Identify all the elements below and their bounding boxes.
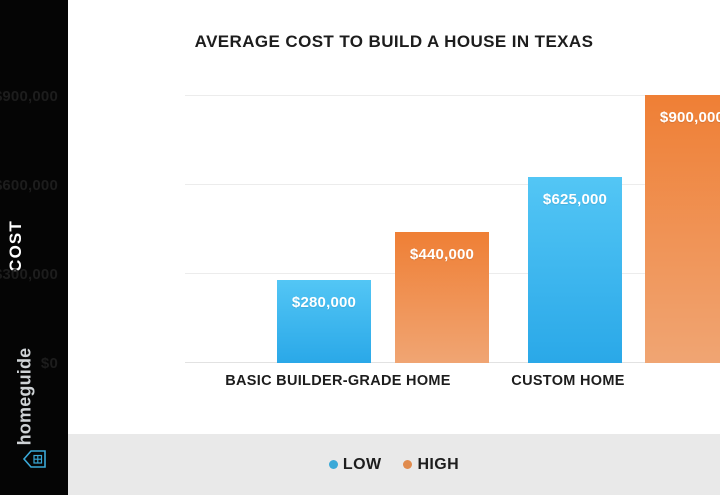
- y-tick-600000: $600,000: [0, 177, 58, 194]
- home-grid-icon: [22, 447, 48, 471]
- gridline-900000: [185, 95, 695, 96]
- y-tick-0: $0: [0, 355, 58, 372]
- bar-low-basic-builder-grade-home[interactable]: $280,000: [277, 280, 371, 363]
- bar-value-label: $280,000: [292, 294, 356, 363]
- legend-item-low[interactable]: LOW: [329, 456, 382, 474]
- chart-title: AVERAGE COST TO BUILD A HOUSE IN TEXAS: [68, 32, 720, 52]
- bar-value-label: $440,000: [410, 246, 474, 363]
- chart-panel: AVERAGE COST TO BUILD A HOUSE IN TEXAS $…: [68, 0, 720, 495]
- plot-area: $280,000 $440,000 $625,000 $900,000: [185, 88, 695, 363]
- bar-value-label: $625,000: [543, 191, 607, 363]
- legend-label: LOW: [343, 456, 382, 474]
- legend-label: HIGH: [417, 456, 459, 474]
- legend-item-high[interactable]: HIGH: [403, 456, 459, 474]
- bar-value-label: $900,000: [660, 109, 720, 363]
- chart-screenshot: COST homeguide AVERAGE COST TO BUILD A H…: [0, 0, 720, 495]
- y-tick-300000: $300,000: [0, 266, 58, 283]
- category-label-custom-home: CUSTOM HOME: [438, 371, 698, 392]
- bar-high-basic-builder-grade-home[interactable]: $440,000: [395, 232, 489, 363]
- y-tick-900000: $900,000: [0, 88, 58, 105]
- category-label-basic-builder-grade-home: BASIC BUILDER-GRADE HOME: [208, 371, 468, 392]
- chart-legend: LOW HIGH: [68, 434, 720, 495]
- sidebar: COST homeguide: [0, 0, 68, 495]
- legend-dot-icon: [329, 460, 338, 469]
- bar-high-custom-home[interactable]: $900,000: [645, 95, 720, 363]
- legend-dot-icon: [403, 460, 412, 469]
- bar-low-custom-home[interactable]: $625,000: [528, 177, 622, 363]
